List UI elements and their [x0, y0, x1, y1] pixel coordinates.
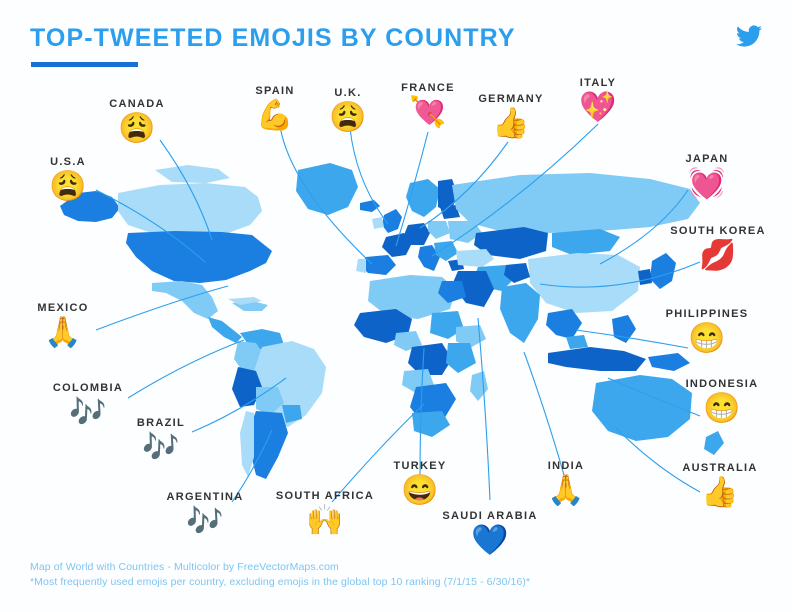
country-india [500, 283, 540, 343]
callout-u-s-a: U.S.A😩 [8, 155, 128, 205]
country-central-america [208, 317, 242, 343]
country-greenland [296, 163, 358, 215]
country-label: INDIA [506, 459, 626, 473]
infographic-canvas: TOP-TWEETED EMOJIS BY COUNTRY [0, 0, 792, 612]
country-label: SOUTH KOREA [658, 224, 778, 238]
country-label: MEXICO [3, 301, 123, 315]
callout-australia: AUSTRALIA👍 [660, 461, 780, 511]
country-label: ITALY [538, 76, 658, 90]
country-canada-arctic [155, 165, 230, 183]
country-usa [126, 231, 272, 283]
folded-hands-icon: 🙏 [506, 473, 626, 509]
country-label: CANADA [77, 97, 197, 111]
weary-face-icon: 😩 [8, 169, 128, 205]
footer-attribution: Map of World with Countries - Multicolor… [30, 560, 530, 575]
footer-note: *Most frequently used emojis per country… [30, 575, 530, 590]
callout-mexico: MEXICO🙏 [3, 301, 123, 351]
country-ireland [372, 217, 384, 229]
callout-argentina: ARGENTINA🎶 [145, 490, 265, 540]
callout-india: INDIA🙏 [506, 459, 626, 509]
weary-face-icon: 😩 [77, 111, 197, 147]
beaming-face-icon: 😁 [662, 391, 782, 427]
country-label: SOUTH AFRICA [265, 489, 385, 503]
callout-saudi-arabia: SAUDI ARABIA💙 [430, 509, 550, 559]
callout-japan: JAPAN💓 [647, 152, 767, 202]
country-label: TURKEY [360, 459, 480, 473]
country-label: SAUDI ARABIA [430, 509, 550, 523]
country-malaysia [566, 335, 588, 349]
country-new-zealand [704, 431, 724, 455]
callout-brazil: BRAZIL🎶 [101, 416, 221, 466]
country-label: PHILIPPINES [647, 307, 767, 321]
country-label: INDONESIA [662, 377, 782, 391]
callout-south-africa: SOUTH AFRICA🙌 [265, 489, 385, 539]
folded-hands-icon: 🙏 [3, 315, 123, 351]
country-china [528, 253, 640, 313]
page-title: TOP-TWEETED EMOJIS BY COUNTRY [30, 24, 516, 53]
callout-indonesia: INDONESIA😁 [662, 377, 782, 427]
country-chile [240, 411, 254, 477]
sparkling-heart-icon: 💖 [538, 90, 658, 126]
callout-philippines: PHILIPPINES😁 [647, 307, 767, 357]
country-mexico [152, 281, 218, 319]
kiss-mark-icon: 💋 [658, 238, 778, 274]
country-portugal [356, 259, 366, 273]
beating-heart-icon: 💓 [647, 166, 767, 202]
musical-notes-icon: 🎶 [101, 430, 221, 466]
country-label: AUSTRALIA [660, 461, 780, 475]
country-label: BRAZIL [101, 416, 221, 430]
raising-hands-icon: 🙌 [265, 503, 385, 539]
callout-italy: ITALY💖 [538, 76, 658, 126]
country-east-africa [446, 343, 476, 373]
country-uk [382, 209, 402, 233]
beaming-face-icon: 😁 [647, 321, 767, 357]
country-poland [428, 221, 450, 239]
title-underline [31, 62, 138, 67]
thumbs-up-icon: 👍 [660, 475, 780, 511]
footer: Map of World with Countries - Multicolor… [30, 560, 530, 590]
country-philippines [612, 315, 636, 343]
country-madagascar [470, 371, 488, 401]
country-indochina [546, 309, 582, 339]
country-scandinavia [406, 179, 440, 217]
country-label: COLOMBIA [28, 381, 148, 395]
country-label: U.S.A [8, 155, 128, 169]
callout-south-korea: SOUTH KOREA💋 [658, 224, 778, 274]
country-indonesia [548, 347, 646, 371]
country-canada [118, 183, 262, 235]
country-argentina [250, 411, 288, 479]
country-label: JAPAN [647, 152, 767, 166]
country-label: ARGENTINA [145, 490, 265, 504]
blue-heart-icon: 💙 [430, 523, 550, 559]
callout-canada: CANADA😩 [77, 97, 197, 147]
musical-notes-icon: 🎶 [145, 504, 265, 540]
country-mongolia [552, 229, 620, 255]
country-korea [638, 269, 652, 285]
country-iceland [360, 200, 380, 212]
twitter-bird-icon [734, 23, 764, 49]
